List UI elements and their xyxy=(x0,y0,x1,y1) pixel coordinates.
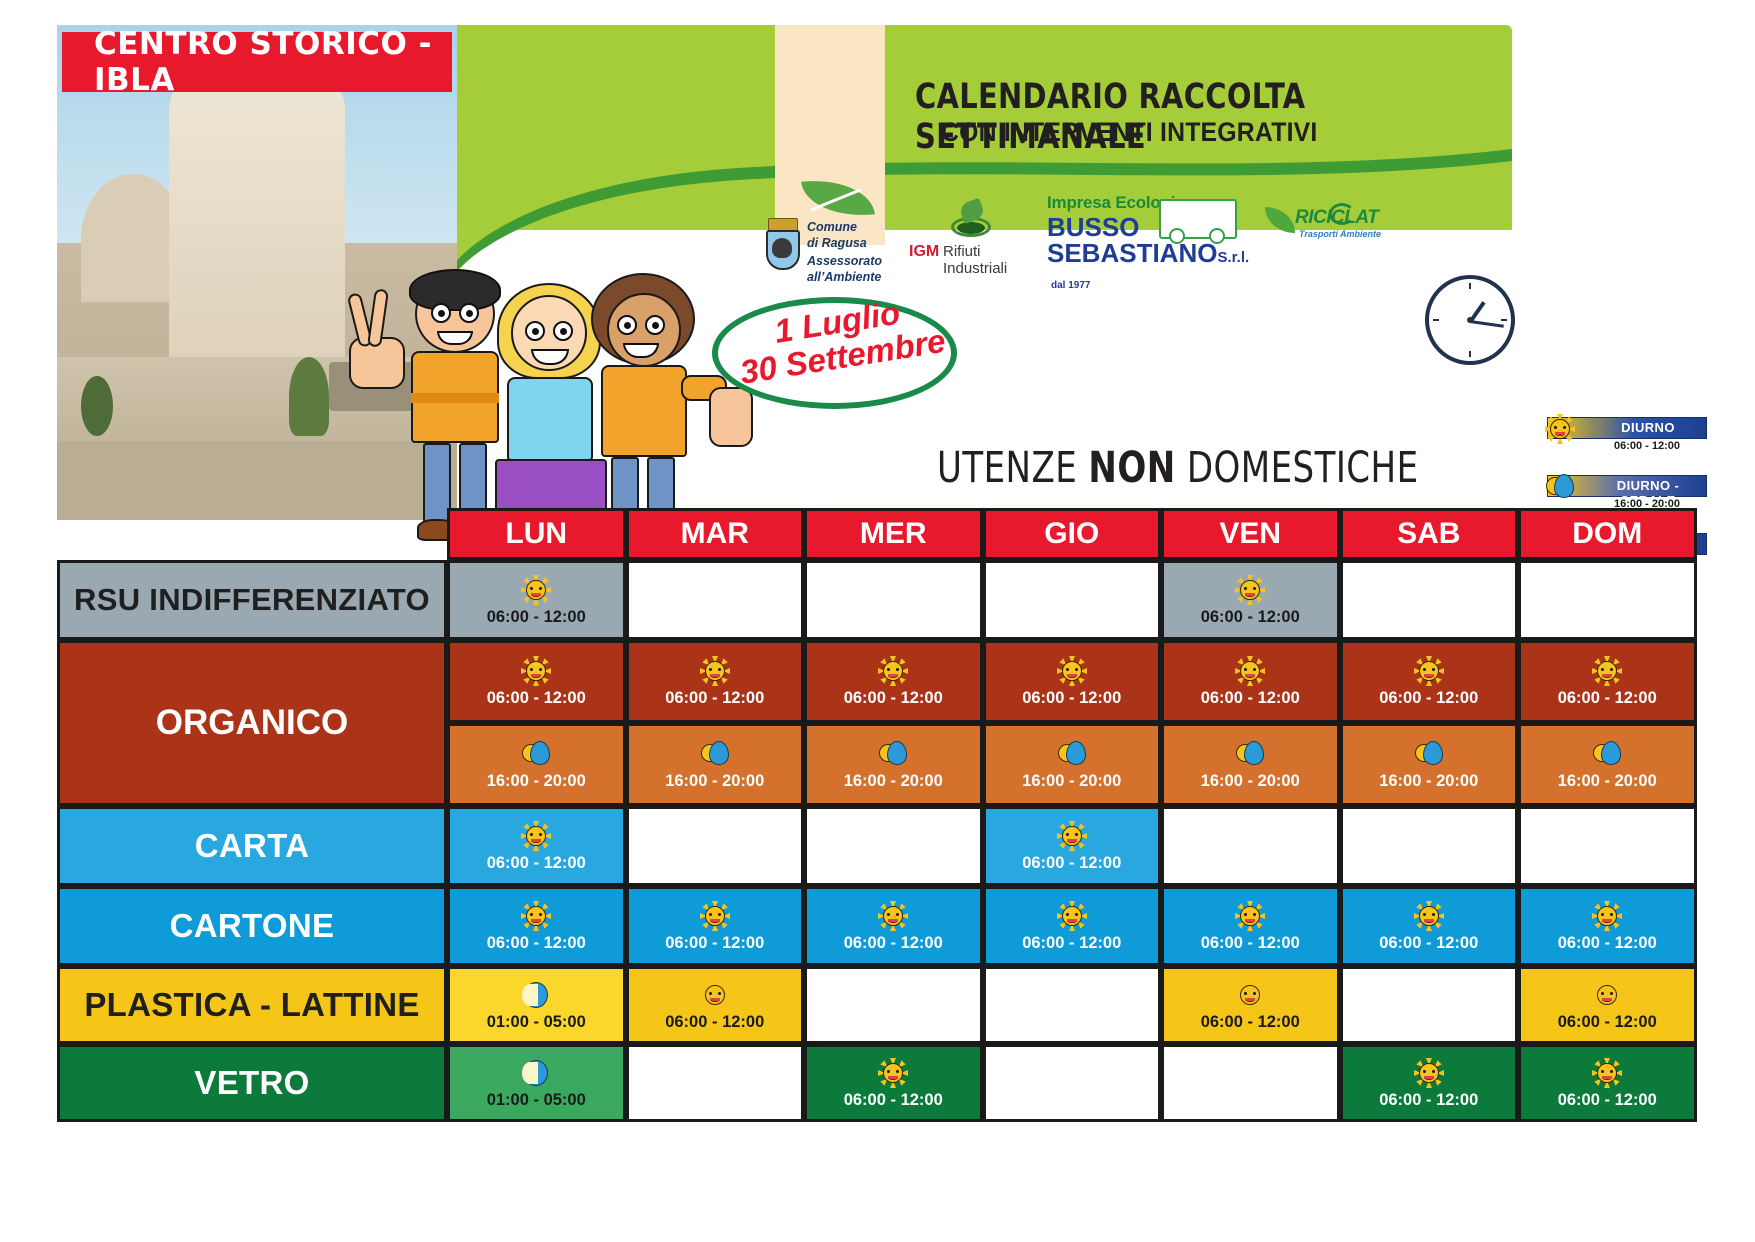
cell-time: 16:00 - 20:00 xyxy=(665,773,764,790)
cell-time: 06:00 - 12:00 xyxy=(665,935,764,952)
cell-organico-eve-ven: 16:00 - 20:00 xyxy=(1161,723,1340,806)
moon-icon xyxy=(519,1058,553,1088)
cell-organico-eve-dom: 16:00 - 20:00 xyxy=(1518,723,1697,806)
comune-name: Comune di Ragusa xyxy=(807,220,867,251)
cell-organico-day-mar: 06:00 - 12:00 xyxy=(626,640,805,723)
cell-carta-dom xyxy=(1518,806,1697,886)
cell-carta-sab xyxy=(1340,806,1519,886)
riciclat-logo: RICICLAT Trasporti Ambiente xyxy=(1265,205,1390,253)
cell-organico-day-lun: 06:00 - 12:00 xyxy=(447,640,626,723)
cell-rsu-mar xyxy=(626,560,805,640)
sun-icon xyxy=(1412,901,1446,931)
busso-srl: S.r.l. xyxy=(1217,249,1249,266)
category-label-carta: CARTA xyxy=(57,806,447,886)
cell-organico-eve-sab: 16:00 - 20:00 xyxy=(1340,723,1519,806)
cell-time: 06:00 - 12:00 xyxy=(487,609,586,626)
table-row-plastica: PLASTICA - LATTINE 01:00 - 05:00 06:00 -… xyxy=(57,966,1697,1044)
sun-icon xyxy=(519,901,553,931)
cell-carta-mer xyxy=(804,806,983,886)
legend-item-diurno: DIURNO 06:00 - 12:00 xyxy=(1529,407,1714,457)
table-row-rsu: RSU INDIFFERENZIATO 06:00 - 12:00 06:00 … xyxy=(57,560,1697,640)
sun-moon-icon xyxy=(1412,739,1446,769)
cell-cartone-ven: 06:00 - 12:00 xyxy=(1161,886,1340,966)
cell-time: 06:00 - 12:00 xyxy=(1022,935,1121,952)
sun-icon xyxy=(519,575,553,605)
cell-cartone-mar: 06:00 - 12:00 xyxy=(626,886,805,966)
cell-vetro-lun: 01:00 - 05:00 xyxy=(447,1044,626,1122)
cell-rsu-gio xyxy=(983,560,1162,640)
cell-time: 01:00 - 05:00 xyxy=(487,1014,586,1031)
sun-icon xyxy=(876,656,910,686)
cell-vetro-mar xyxy=(626,1044,805,1122)
sun-icon xyxy=(1233,656,1267,686)
cell-cartone-mer: 06:00 - 12:00 xyxy=(804,886,983,966)
cell-vetro-sab: 06:00 - 12:00 xyxy=(1340,1044,1519,1122)
cell-carta-mar xyxy=(626,806,805,886)
igm-name: Rifiuti Industriali xyxy=(943,243,1035,277)
legend-time: 06:00 - 12:00 xyxy=(1587,440,1707,452)
cell-time: 06:00 - 12:00 xyxy=(665,690,764,707)
cell-plastica-mar: 06:00 - 12:00 xyxy=(626,966,805,1044)
cell-time: 06:00 - 12:00 xyxy=(1558,935,1657,952)
cell-rsu-lun: 06:00 - 12:00 xyxy=(447,560,626,640)
cell-rsu-ven: 06:00 - 12:00 xyxy=(1161,560,1340,640)
cell-time: 06:00 - 12:00 xyxy=(1379,1092,1478,1109)
sun-icon xyxy=(1233,980,1267,1010)
cell-organico-day-sab: 06:00 - 12:00 xyxy=(1340,640,1519,723)
igm-logo: IGM Rifiuti Industriali xyxy=(909,203,1035,265)
sun-icon xyxy=(1233,901,1267,931)
cell-plastica-sab xyxy=(1340,966,1519,1044)
sun-moon-icon xyxy=(519,739,553,769)
day-header-lun: LUN xyxy=(447,508,626,560)
legend-label: DIURNO xyxy=(1589,420,1707,435)
cell-organico-day-dom: 06:00 - 12:00 xyxy=(1518,640,1697,723)
sun-icon xyxy=(1055,821,1089,851)
garbage-truck-icon xyxy=(1159,199,1237,239)
comune-department: Assessorato all’Ambiente xyxy=(807,254,882,285)
cell-vetro-mer: 06:00 - 12:00 xyxy=(804,1044,983,1122)
cell-plastica-dom: 06:00 - 12:00 xyxy=(1518,966,1697,1044)
cell-vetro-gio xyxy=(983,1044,1162,1122)
moon-icon xyxy=(519,980,553,1010)
sun-icon xyxy=(519,821,553,851)
cell-carta-lun: 06:00 - 12:00 xyxy=(447,806,626,886)
cell-plastica-lun: 01:00 - 05:00 xyxy=(447,966,626,1044)
sun-icon xyxy=(1233,575,1267,605)
cell-time: 06:00 - 12:00 xyxy=(487,855,586,872)
cell-cartone-sab: 06:00 - 12:00 xyxy=(1340,886,1519,966)
cell-organico-day-ven: 06:00 - 12:00 xyxy=(1161,640,1340,723)
cell-time: 16:00 - 20:00 xyxy=(844,773,943,790)
zone-title-text: CENTRO STORICO - IBLA xyxy=(94,26,452,98)
cell-time: 06:00 - 12:00 xyxy=(1558,1092,1657,1109)
sun-moon-icon xyxy=(698,739,732,769)
sun-icon xyxy=(1590,980,1624,1010)
organico-day-subrow: 06:00 - 12:00 06:00 - 12:00 06:00 - 12:0… xyxy=(447,640,1697,723)
day-header-gio: GIO xyxy=(983,508,1162,560)
busso-year: dal 1977 xyxy=(1051,281,1090,291)
header-spacer xyxy=(57,508,447,560)
cell-rsu-sab xyxy=(1340,560,1519,640)
cell-cartone-gio: 06:00 - 12:00 xyxy=(983,886,1162,966)
sun-icon xyxy=(698,901,732,931)
organico-evening-subrow: 16:00 - 20:00 16:00 - 20:00 16:00 - 20:0… xyxy=(447,723,1697,806)
busso-sebastiano-logo: Impresa Ecologica BUSSO SEBASTIANOS.r.l.… xyxy=(1047,193,1247,265)
cell-time: 06:00 - 12:00 xyxy=(1558,1014,1657,1031)
riciclat-tagline: Trasporti Ambiente xyxy=(1299,229,1381,239)
cell-time: 06:00 - 12:00 xyxy=(844,690,943,707)
comune-di-ragusa-logo: Comune di Ragusa Assessorato all’Ambient… xyxy=(745,180,897,285)
sun-moon-icon xyxy=(876,739,910,769)
cell-plastica-mer xyxy=(804,966,983,1044)
cell-time: 06:00 - 12:00 xyxy=(487,690,586,707)
cell-time: 16:00 - 20:00 xyxy=(1379,773,1478,790)
sun-icon xyxy=(1055,901,1089,931)
cell-plastica-ven: 06:00 - 12:00 xyxy=(1161,966,1340,1044)
cell-organico-day-mer: 06:00 - 12:00 xyxy=(804,640,983,723)
cell-time: 16:00 - 20:00 xyxy=(1558,773,1657,790)
ragusa-crest-icon xyxy=(763,218,803,270)
cell-time: 06:00 - 12:00 xyxy=(1201,690,1300,707)
cell-time: 06:00 - 12:00 xyxy=(1379,690,1478,707)
collection-schedule-table: LUN MAR MER GIO VEN SAB DOM RSU INDIFFER… xyxy=(57,508,1697,1122)
cell-time: 06:00 - 12:00 xyxy=(1201,935,1300,952)
cell-time: 06:00 - 12:00 xyxy=(844,1092,943,1109)
sun-icon xyxy=(1537,407,1583,451)
riciclat-name: RICICLAT xyxy=(1295,207,1378,229)
sun-moon-icon xyxy=(1537,465,1583,509)
igm-plant-icon xyxy=(947,203,993,239)
cell-plastica-gio xyxy=(983,966,1162,1044)
cell-time: 06:00 - 12:00 xyxy=(665,1014,764,1031)
leaf-icon xyxy=(801,174,875,221)
category-label-vetro: VETRO xyxy=(57,1044,447,1122)
sun-icon xyxy=(519,656,553,686)
utenze-suffix: DOMESTICHE xyxy=(1176,443,1419,493)
sun-icon xyxy=(1055,656,1089,686)
sun-moon-icon xyxy=(1055,739,1089,769)
category-label-rsu: RSU INDIFFERENZIATO xyxy=(57,560,447,640)
sun-icon xyxy=(1412,1058,1446,1088)
utenze-non: NON xyxy=(1088,443,1175,493)
cell-vetro-ven xyxy=(1161,1044,1340,1122)
cell-organico-eve-lun: 16:00 - 20:00 xyxy=(447,723,626,806)
sun-moon-icon xyxy=(1233,739,1267,769)
sun-icon xyxy=(698,656,732,686)
sun-icon xyxy=(1412,656,1446,686)
sun-icon xyxy=(876,1058,910,1088)
cell-organico-day-gio: 06:00 - 12:00 xyxy=(983,640,1162,723)
day-header-sab: SAB xyxy=(1340,508,1519,560)
day-header-ven: VEN xyxy=(1161,508,1340,560)
table-row-organico: ORGANICO 06:00 - 12:00 06:00 - 12:00 06:… xyxy=(57,640,1697,806)
leaf-icon xyxy=(1265,207,1295,233)
category-label-plastica: PLASTICA - LATTINE xyxy=(57,966,447,1044)
cell-vetro-dom: 06:00 - 12:00 xyxy=(1518,1044,1697,1122)
cell-time: 06:00 - 12:00 xyxy=(1558,690,1657,707)
cell-time: 06:00 - 12:00 xyxy=(1022,690,1121,707)
cell-rsu-dom xyxy=(1518,560,1697,640)
sun-icon xyxy=(1590,901,1624,931)
cell-time: 06:00 - 12:00 xyxy=(1379,935,1478,952)
cell-time: 06:00 - 12:00 xyxy=(844,935,943,952)
cell-cartone-dom: 06:00 - 12:00 xyxy=(1518,886,1697,966)
sun-icon xyxy=(1590,1058,1624,1088)
page-subtitle: CON INTERVENTI INTEGRATIVI xyxy=(941,117,1317,148)
poster-header: CENTRO STORICO - IBLA CALENDARIO RACCOLT… xyxy=(57,25,1512,520)
utenze-prefix: UTENZE xyxy=(937,443,1088,493)
clock-icon xyxy=(1425,275,1515,365)
igm-abbrev: IGM xyxy=(909,243,939,261)
table-row-carta: CARTA 06:00 - 12:00 06:00 - 12:00 xyxy=(57,806,1697,886)
zone-title-banner: CENTRO STORICO - IBLA xyxy=(62,32,452,92)
sun-icon xyxy=(1590,656,1624,686)
cell-rsu-mer xyxy=(804,560,983,640)
cell-organico-eve-mer: 16:00 - 20:00 xyxy=(804,723,983,806)
utenze-label: UTENZE NON DOMESTICHE xyxy=(937,443,1419,493)
cell-carta-ven xyxy=(1161,806,1340,886)
table-header-row: LUN MAR MER GIO VEN SAB DOM xyxy=(57,508,1697,560)
category-label-cartone: CARTONE xyxy=(57,886,447,966)
busso-surname: SEBASTIANO xyxy=(1047,238,1217,268)
day-header-dom: DOM xyxy=(1518,508,1697,560)
cell-carta-gio: 06:00 - 12:00 xyxy=(983,806,1162,886)
cell-time: 16:00 - 20:00 xyxy=(1022,773,1121,790)
cell-time: 06:00 - 12:00 xyxy=(1201,609,1300,626)
table-row-cartone: CARTONE 06:00 - 12:00 06:00 - 12:00 06:0… xyxy=(57,886,1697,966)
cell-time: 06:00 - 12:00 xyxy=(487,935,586,952)
table-row-vetro: VETRO 01:00 - 05:00 06:00 - 12:00 06:00 … xyxy=(57,1044,1697,1122)
sun-moon-icon xyxy=(1590,739,1624,769)
category-label-organico: ORGANICO xyxy=(57,640,447,806)
day-header-mar: MAR xyxy=(626,508,805,560)
sun-icon xyxy=(698,980,732,1010)
cell-cartone-lun: 06:00 - 12:00 xyxy=(447,886,626,966)
cell-time: 06:00 - 12:00 xyxy=(1201,1014,1300,1031)
cell-time: 01:00 - 05:00 xyxy=(487,1092,586,1109)
day-header-mer: MER xyxy=(804,508,983,560)
cell-organico-eve-gio: 16:00 - 20:00 xyxy=(983,723,1162,806)
cell-time: 06:00 - 12:00 xyxy=(1022,855,1121,872)
cell-time: 16:00 - 20:00 xyxy=(1201,773,1300,790)
cell-time: 16:00 - 20:00 xyxy=(487,773,586,790)
sun-icon xyxy=(876,901,910,931)
cell-organico-eve-mar: 16:00 - 20:00 xyxy=(626,723,805,806)
